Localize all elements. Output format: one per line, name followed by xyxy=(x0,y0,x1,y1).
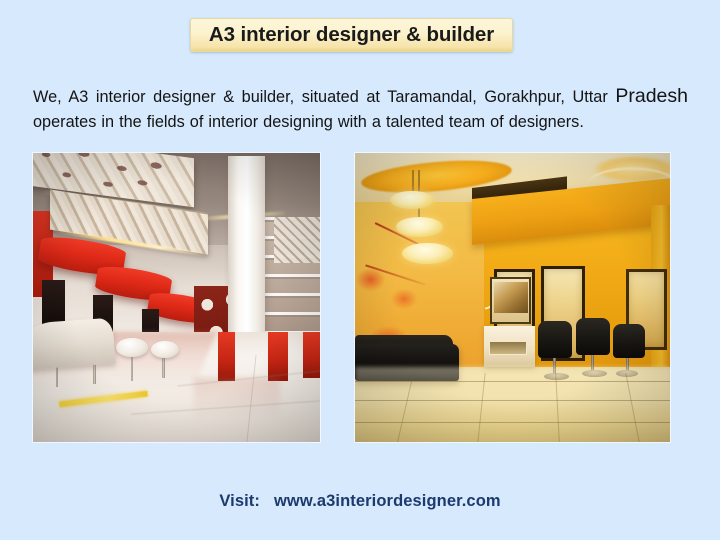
footer-visit-label: Visit: xyxy=(219,492,260,510)
body-segment-emphasis: Pradesh xyxy=(615,85,688,107)
footer-website-url[interactable]: www.a3interiordesigner.com xyxy=(274,492,501,510)
floor-reflection xyxy=(194,378,280,418)
lattice-screen-upper-right xyxy=(274,217,320,263)
restaurant-bar-scene xyxy=(33,153,320,442)
bar-stool-seat xyxy=(116,338,148,357)
slide-title-box: A3 interior designer & builder xyxy=(190,18,513,52)
bar-stool-post xyxy=(131,355,134,381)
cabinet-niche xyxy=(489,341,527,355)
salon-scene xyxy=(355,153,670,442)
pendant-lamp xyxy=(390,191,434,210)
wall-picture-image xyxy=(494,282,529,314)
salon-chair xyxy=(613,324,645,359)
body-segment-1: We, A3 interior designer & builder, situ… xyxy=(33,88,615,106)
pendant-lamp xyxy=(396,217,443,237)
pendant-lamp-rod xyxy=(412,170,414,193)
body-paragraph: We, A3 interior designer & builder, situ… xyxy=(33,82,688,134)
image-restaurant-bar-interior xyxy=(33,153,320,442)
bar-counter xyxy=(33,317,115,370)
body-segment-2: operates in the fields of interior desig… xyxy=(33,113,584,131)
slide-canvas: A3 interior designer & builder We, A3 in… xyxy=(0,0,720,540)
salon-chair xyxy=(576,318,611,356)
pendant-lamp xyxy=(402,243,452,265)
red-base-panel xyxy=(218,332,235,381)
floor-sheen xyxy=(355,367,670,413)
footer: Visit:www.a3interiordesigner.com xyxy=(0,492,720,511)
floor-tile-seam xyxy=(355,381,670,382)
floor-tile-seam xyxy=(355,400,670,401)
salon-chair xyxy=(538,321,573,359)
slide-title-text: A3 interior designer & builder xyxy=(209,25,494,46)
image-salon-interior xyxy=(355,153,670,442)
bar-stool-post xyxy=(162,355,165,378)
